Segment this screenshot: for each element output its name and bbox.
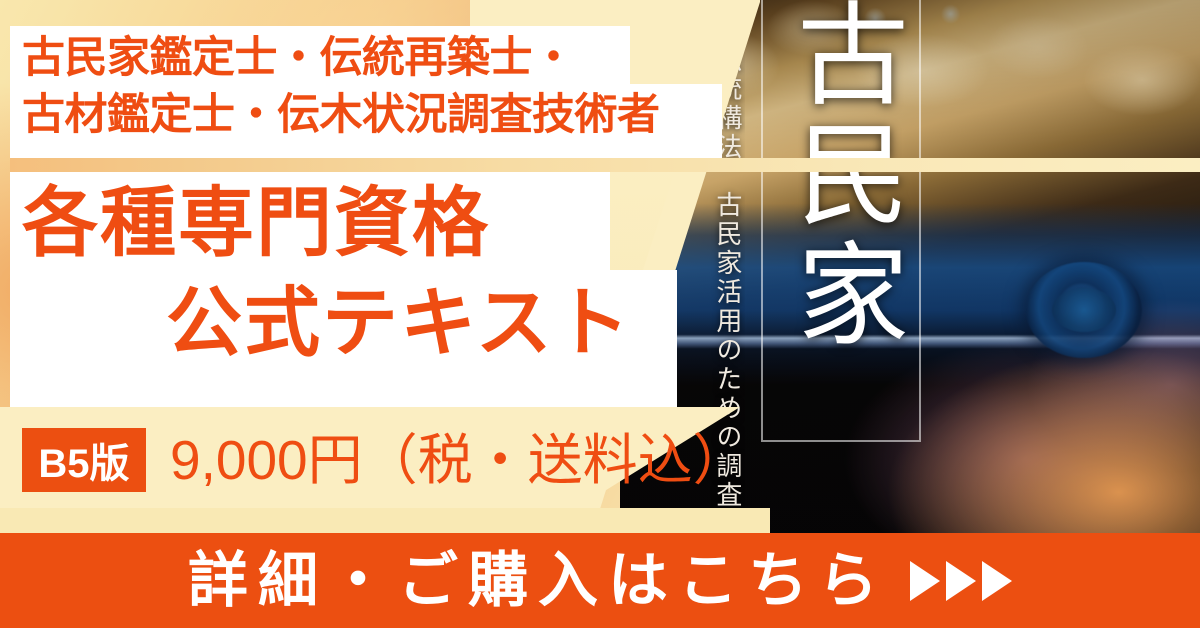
panel-divider-strip xyxy=(10,158,1200,172)
price-text: 9,000円（税・送料込） xyxy=(170,429,748,491)
book-cover-title: 古民家 xyxy=(770,0,908,356)
cta-button[interactable]: 詳細・ご購入はこちら xyxy=(0,533,1200,628)
main-title-line1: 各種専門資格 xyxy=(22,186,490,262)
size-badge: B5版 xyxy=(22,428,146,492)
cta-label: 詳細・ご購入はこちら xyxy=(188,551,888,611)
triangle-right-icon xyxy=(910,561,940,601)
cta-separator-strip xyxy=(0,508,770,533)
promo-banner: 伝統構法 古民家活用のための調査と再生の 古民家 古民家鑑定士・伝統再築士・ 古… xyxy=(0,0,1200,628)
main-title-line2: 公式テキスト xyxy=(166,286,632,362)
triangle-right-icon xyxy=(946,561,976,601)
cta-arrows xyxy=(910,561,1012,601)
triangle-right-icon xyxy=(982,561,1012,601)
qualifications-text: 古民家鑑定士・伝統再築士・ 古材鑑定士・伝木状況調査技術者 xyxy=(22,30,722,144)
